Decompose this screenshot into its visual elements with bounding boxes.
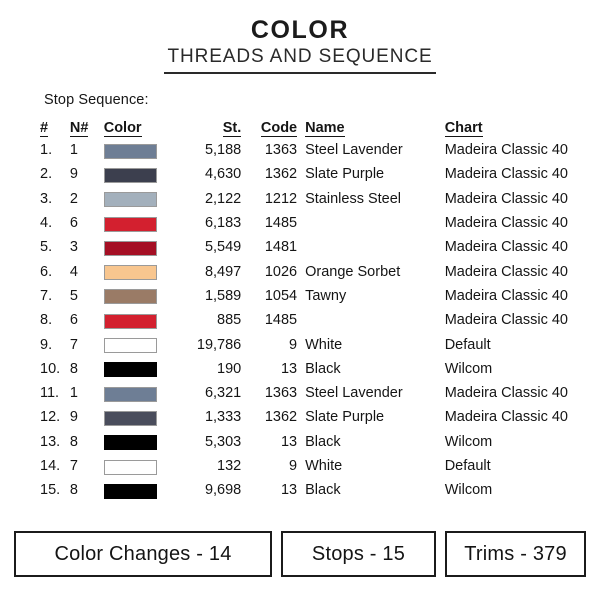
table-row: 14.71329WhiteDefault <box>38 455 568 479</box>
summary-color-changes-label: Color Changes - 14 <box>54 543 231 566</box>
row-stitches: 5,303 <box>179 431 249 455</box>
row-chart: Madeira Classic 40 <box>445 309 568 333</box>
row-color-cell <box>104 382 180 406</box>
summary-stops-label: Stops - 15 <box>312 543 405 566</box>
row-color-cell <box>104 406 180 430</box>
row-stitches: 19,786 <box>179 333 249 357</box>
row-index: 15. <box>38 479 70 503</box>
row-stitches: 132 <box>179 455 249 479</box>
stop-sequence-label: Stop Sequence: <box>44 92 149 108</box>
table-row: 13.85,30313BlackWilcom <box>38 431 568 455</box>
row-stitches: 2,122 <box>179 188 249 212</box>
page-subtitle: THREADS AND SEQUENCE <box>164 46 435 68</box>
column-header-needle: N# <box>70 118 104 139</box>
color-swatch <box>104 484 157 499</box>
row-index: 8. <box>38 309 70 333</box>
row-index: 11. <box>38 382 70 406</box>
table-row: 4.66,1831485Madeira Classic 40 <box>38 212 568 236</box>
row-chart: Madeira Classic 40 <box>445 212 568 236</box>
page-header: COLOR THREADS AND SEQUENCE <box>0 0 600 74</box>
color-swatch <box>104 144 157 159</box>
row-chart: Madeira Classic 40 <box>445 406 568 430</box>
row-needle: 5 <box>70 285 104 309</box>
stop-sequence-table: # N# Color St. Code Name Chart 1.15,1881… <box>38 118 568 503</box>
color-swatch <box>104 362 157 377</box>
row-name: Black <box>305 431 445 455</box>
table-row: 8.68851485Madeira Classic 40 <box>38 309 568 333</box>
row-color-cell <box>104 309 180 333</box>
row-stitches: 8,497 <box>179 260 249 284</box>
row-chart: Madeira Classic 40 <box>445 163 568 187</box>
table-row: 7.51,5891054TawnyMadeira Classic 40 <box>38 285 568 309</box>
row-code: 1485 <box>249 309 305 333</box>
row-code: 9 <box>249 333 305 357</box>
row-stitches: 9,698 <box>179 479 249 503</box>
row-chart: Madeira Classic 40 <box>445 260 568 284</box>
column-header-chart-text: Chart <box>445 120 483 137</box>
color-swatch <box>104 241 157 256</box>
row-needle: 9 <box>70 406 104 430</box>
color-swatch <box>104 411 157 426</box>
row-name <box>305 236 445 260</box>
table-body: 1.15,1881363Steel LavenderMadeira Classi… <box>38 139 568 503</box>
row-color-cell <box>104 479 180 503</box>
row-code: 1362 <box>249 163 305 187</box>
color-swatch <box>104 168 157 183</box>
column-header-chart: Chart <box>445 118 568 139</box>
column-header-code-text: Code <box>261 120 297 137</box>
color-swatch <box>104 435 157 450</box>
row-color-cell <box>104 139 180 163</box>
column-header-name: Name <box>305 118 445 139</box>
row-color-cell <box>104 285 180 309</box>
row-name: Steel Lavender <box>305 139 445 163</box>
table-row: 9.719,7869WhiteDefault <box>38 333 568 357</box>
row-needle: 9 <box>70 163 104 187</box>
column-header-stitches: St. <box>179 118 249 139</box>
row-chart: Madeira Classic 40 <box>445 236 568 260</box>
column-header-color: Color <box>104 118 180 139</box>
row-code: 13 <box>249 431 305 455</box>
row-index: 9. <box>38 333 70 357</box>
page-title: COLOR <box>0 17 600 44</box>
row-color-cell <box>104 431 180 455</box>
row-needle: 6 <box>70 212 104 236</box>
color-swatch <box>104 217 157 232</box>
row-name: Tawny <box>305 285 445 309</box>
row-color-cell <box>104 358 180 382</box>
summary-box-trims: Trims - 379 <box>445 531 586 577</box>
table-row: 6.48,4971026Orange SorbetMadeira Classic… <box>38 260 568 284</box>
column-header-index: # <box>38 118 70 139</box>
row-color-cell <box>104 163 180 187</box>
row-chart: Madeira Classic 40 <box>445 188 568 212</box>
row-needle: 7 <box>70 333 104 357</box>
summary-row: Color Changes - 14 Stops - 15 Trims - 37… <box>14 531 586 577</box>
table-row: 3.22,1221212Stainless SteelMadeira Class… <box>38 188 568 212</box>
page-subtitle-underline: THREADS AND SEQUENCE <box>164 46 435 74</box>
column-header-stitches-text: St. <box>223 120 242 137</box>
row-code: 1481 <box>249 236 305 260</box>
row-stitches: 885 <box>179 309 249 333</box>
column-header-name-text: Name <box>305 120 345 137</box>
row-chart: Default <box>445 333 568 357</box>
row-needle: 8 <box>70 479 104 503</box>
row-index: 13. <box>38 431 70 455</box>
row-name: Black <box>305 358 445 382</box>
table-row: 11.16,3211363Steel LavenderMadeira Class… <box>38 382 568 406</box>
row-needle: 2 <box>70 188 104 212</box>
row-index: 5. <box>38 236 70 260</box>
row-color-cell <box>104 260 180 284</box>
color-swatch <box>104 387 157 402</box>
row-chart: Wilcom <box>445 431 568 455</box>
row-name: White <box>305 455 445 479</box>
row-needle: 1 <box>70 382 104 406</box>
table-row: 10.819013BlackWilcom <box>38 358 568 382</box>
row-name <box>305 212 445 236</box>
row-chart: Madeira Classic 40 <box>445 285 568 309</box>
row-name: Black <box>305 479 445 503</box>
row-code: 9 <box>249 455 305 479</box>
row-name: Steel Lavender <box>305 382 445 406</box>
row-code: 13 <box>249 479 305 503</box>
row-index: 14. <box>38 455 70 479</box>
row-stitches: 6,321 <box>179 382 249 406</box>
table-row: 15.89,69813BlackWilcom <box>38 479 568 503</box>
row-code: 1485 <box>249 212 305 236</box>
row-name <box>305 309 445 333</box>
row-index: 3. <box>38 188 70 212</box>
row-index: 1. <box>38 139 70 163</box>
row-needle: 1 <box>70 139 104 163</box>
table-row: 12.91,3331362Slate PurpleMadeira Classic… <box>38 406 568 430</box>
row-needle: 8 <box>70 358 104 382</box>
row-needle: 6 <box>70 309 104 333</box>
row-color-cell <box>104 212 180 236</box>
row-code: 1212 <box>249 188 305 212</box>
color-swatch <box>104 192 157 207</box>
row-name: Slate Purple <box>305 406 445 430</box>
row-stitches: 1,589 <box>179 285 249 309</box>
row-index: 4. <box>38 212 70 236</box>
row-needle: 7 <box>70 455 104 479</box>
table-row: 1.15,1881363Steel LavenderMadeira Classi… <box>38 139 568 163</box>
column-header-index-text: # <box>40 120 48 137</box>
table-row: 2.94,6301362Slate PurpleMadeira Classic … <box>38 163 568 187</box>
row-stitches: 5,188 <box>179 139 249 163</box>
row-name: Stainless Steel <box>305 188 445 212</box>
column-header-color-text: Color <box>104 120 142 137</box>
row-needle: 4 <box>70 260 104 284</box>
color-swatch <box>104 460 157 475</box>
row-index: 12. <box>38 406 70 430</box>
column-header-code: Code <box>249 118 305 139</box>
color-swatch <box>104 289 157 304</box>
row-index: 7. <box>38 285 70 309</box>
table-header-row: # N# Color St. Code Name Chart <box>38 118 568 139</box>
row-needle: 3 <box>70 236 104 260</box>
row-stitches: 5,549 <box>179 236 249 260</box>
row-name: Orange Sorbet <box>305 260 445 284</box>
row-code: 1363 <box>249 139 305 163</box>
row-code: 1363 <box>249 382 305 406</box>
row-code: 1362 <box>249 406 305 430</box>
row-stitches: 6,183 <box>179 212 249 236</box>
row-code: 1026 <box>249 260 305 284</box>
row-code: 13 <box>249 358 305 382</box>
row-chart: Madeira Classic 40 <box>445 139 568 163</box>
row-color-cell <box>104 188 180 212</box>
row-chart: Default <box>445 455 568 479</box>
row-code: 1054 <box>249 285 305 309</box>
row-stitches: 4,630 <box>179 163 249 187</box>
summary-box-stops: Stops - 15 <box>281 531 436 577</box>
summary-trims-label: Trims - 379 <box>464 543 567 566</box>
row-color-cell <box>104 455 180 479</box>
row-stitches: 190 <box>179 358 249 382</box>
color-swatch <box>104 265 157 280</box>
summary-box-color-changes: Color Changes - 14 <box>14 531 272 577</box>
row-index: 10. <box>38 358 70 382</box>
row-chart: Wilcom <box>445 358 568 382</box>
column-header-needle-text: N# <box>70 120 89 137</box>
row-color-cell <box>104 333 180 357</box>
row-chart: Madeira Classic 40 <box>445 382 568 406</box>
table-row: 5.35,5491481Madeira Classic 40 <box>38 236 568 260</box>
row-chart: Wilcom <box>445 479 568 503</box>
row-index: 2. <box>38 163 70 187</box>
color-swatch <box>104 314 157 329</box>
row-stitches: 1,333 <box>179 406 249 430</box>
row-index: 6. <box>38 260 70 284</box>
row-needle: 8 <box>70 431 104 455</box>
row-name: Slate Purple <box>305 163 445 187</box>
color-swatch <box>104 338 157 353</box>
row-name: White <box>305 333 445 357</box>
row-color-cell <box>104 236 180 260</box>
